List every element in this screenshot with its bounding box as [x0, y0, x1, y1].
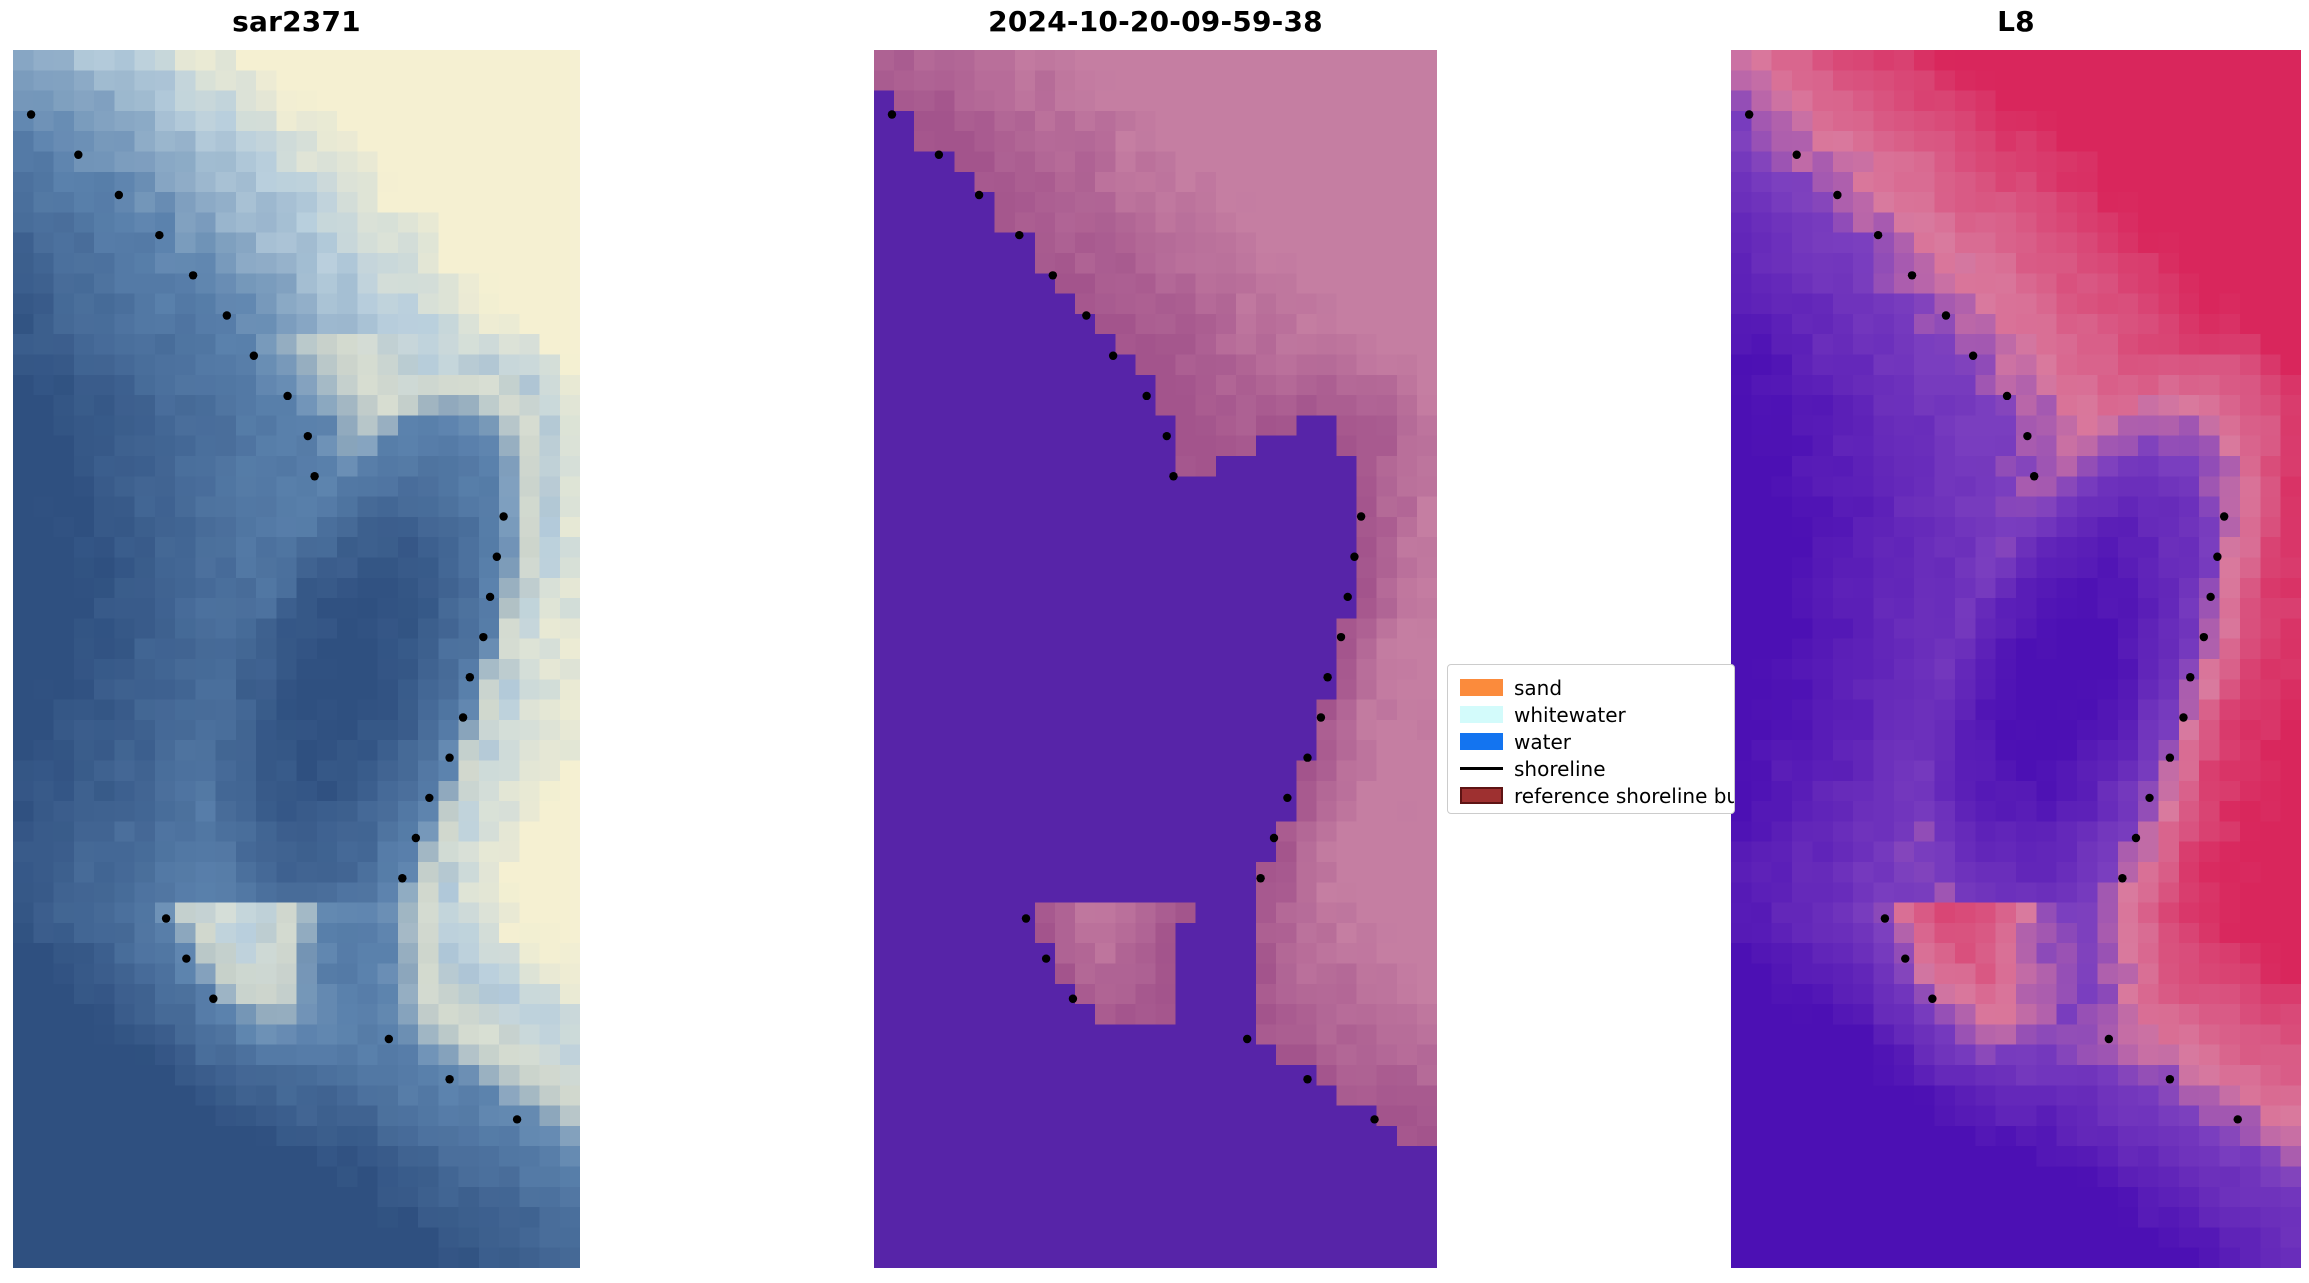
legend-item-reference-shoreline-buffer[interactable]: reference shoreline buffer — [1448, 782, 1734, 809]
legend-item-water[interactable]: water — [1448, 728, 1734, 755]
sand-swatch — [1460, 679, 1503, 696]
figure-canvas: sar2371 2024-10-20-09-59-38 L8 sand whit… — [0, 0, 2309, 1283]
panel-title-classified: 2024-10-20-09-59-38 — [874, 8, 1437, 36]
image-panel-sar[interactable] — [13, 50, 580, 1268]
reference-shoreline-buffer-swatch — [1460, 787, 1503, 804]
panel-title-l8: L8 — [1731, 8, 2301, 36]
shoreline-overlay — [874, 50, 1437, 1268]
panel-title-sar: sar2371 — [13, 8, 580, 36]
legend-item-whitewater[interactable]: whitewater — [1448, 701, 1734, 728]
legend-label-sand: sand — [1514, 678, 1562, 698]
legend-item-shoreline[interactable]: shoreline — [1448, 755, 1734, 782]
shoreline-line-swatch — [1460, 767, 1503, 770]
legend-label-reference-shoreline-buffer: reference shoreline buffer — [1514, 786, 1735, 806]
shoreline-overlay — [1731, 50, 2301, 1268]
whitewater-swatch — [1460, 706, 1503, 723]
image-panel-classified[interactable] — [874, 50, 1437, 1268]
legend-label-whitewater: whitewater — [1514, 705, 1626, 725]
shoreline-overlay — [13, 50, 580, 1268]
legend-label-shoreline: shoreline — [1514, 759, 1606, 779]
legend-label-water: water — [1514, 732, 1571, 752]
image-panel-l8[interactable] — [1731, 50, 2301, 1268]
legend-box: sand whitewater water shoreline referenc… — [1447, 664, 1735, 814]
water-swatch — [1460, 733, 1503, 750]
legend-item-sand[interactable]: sand — [1448, 674, 1734, 701]
